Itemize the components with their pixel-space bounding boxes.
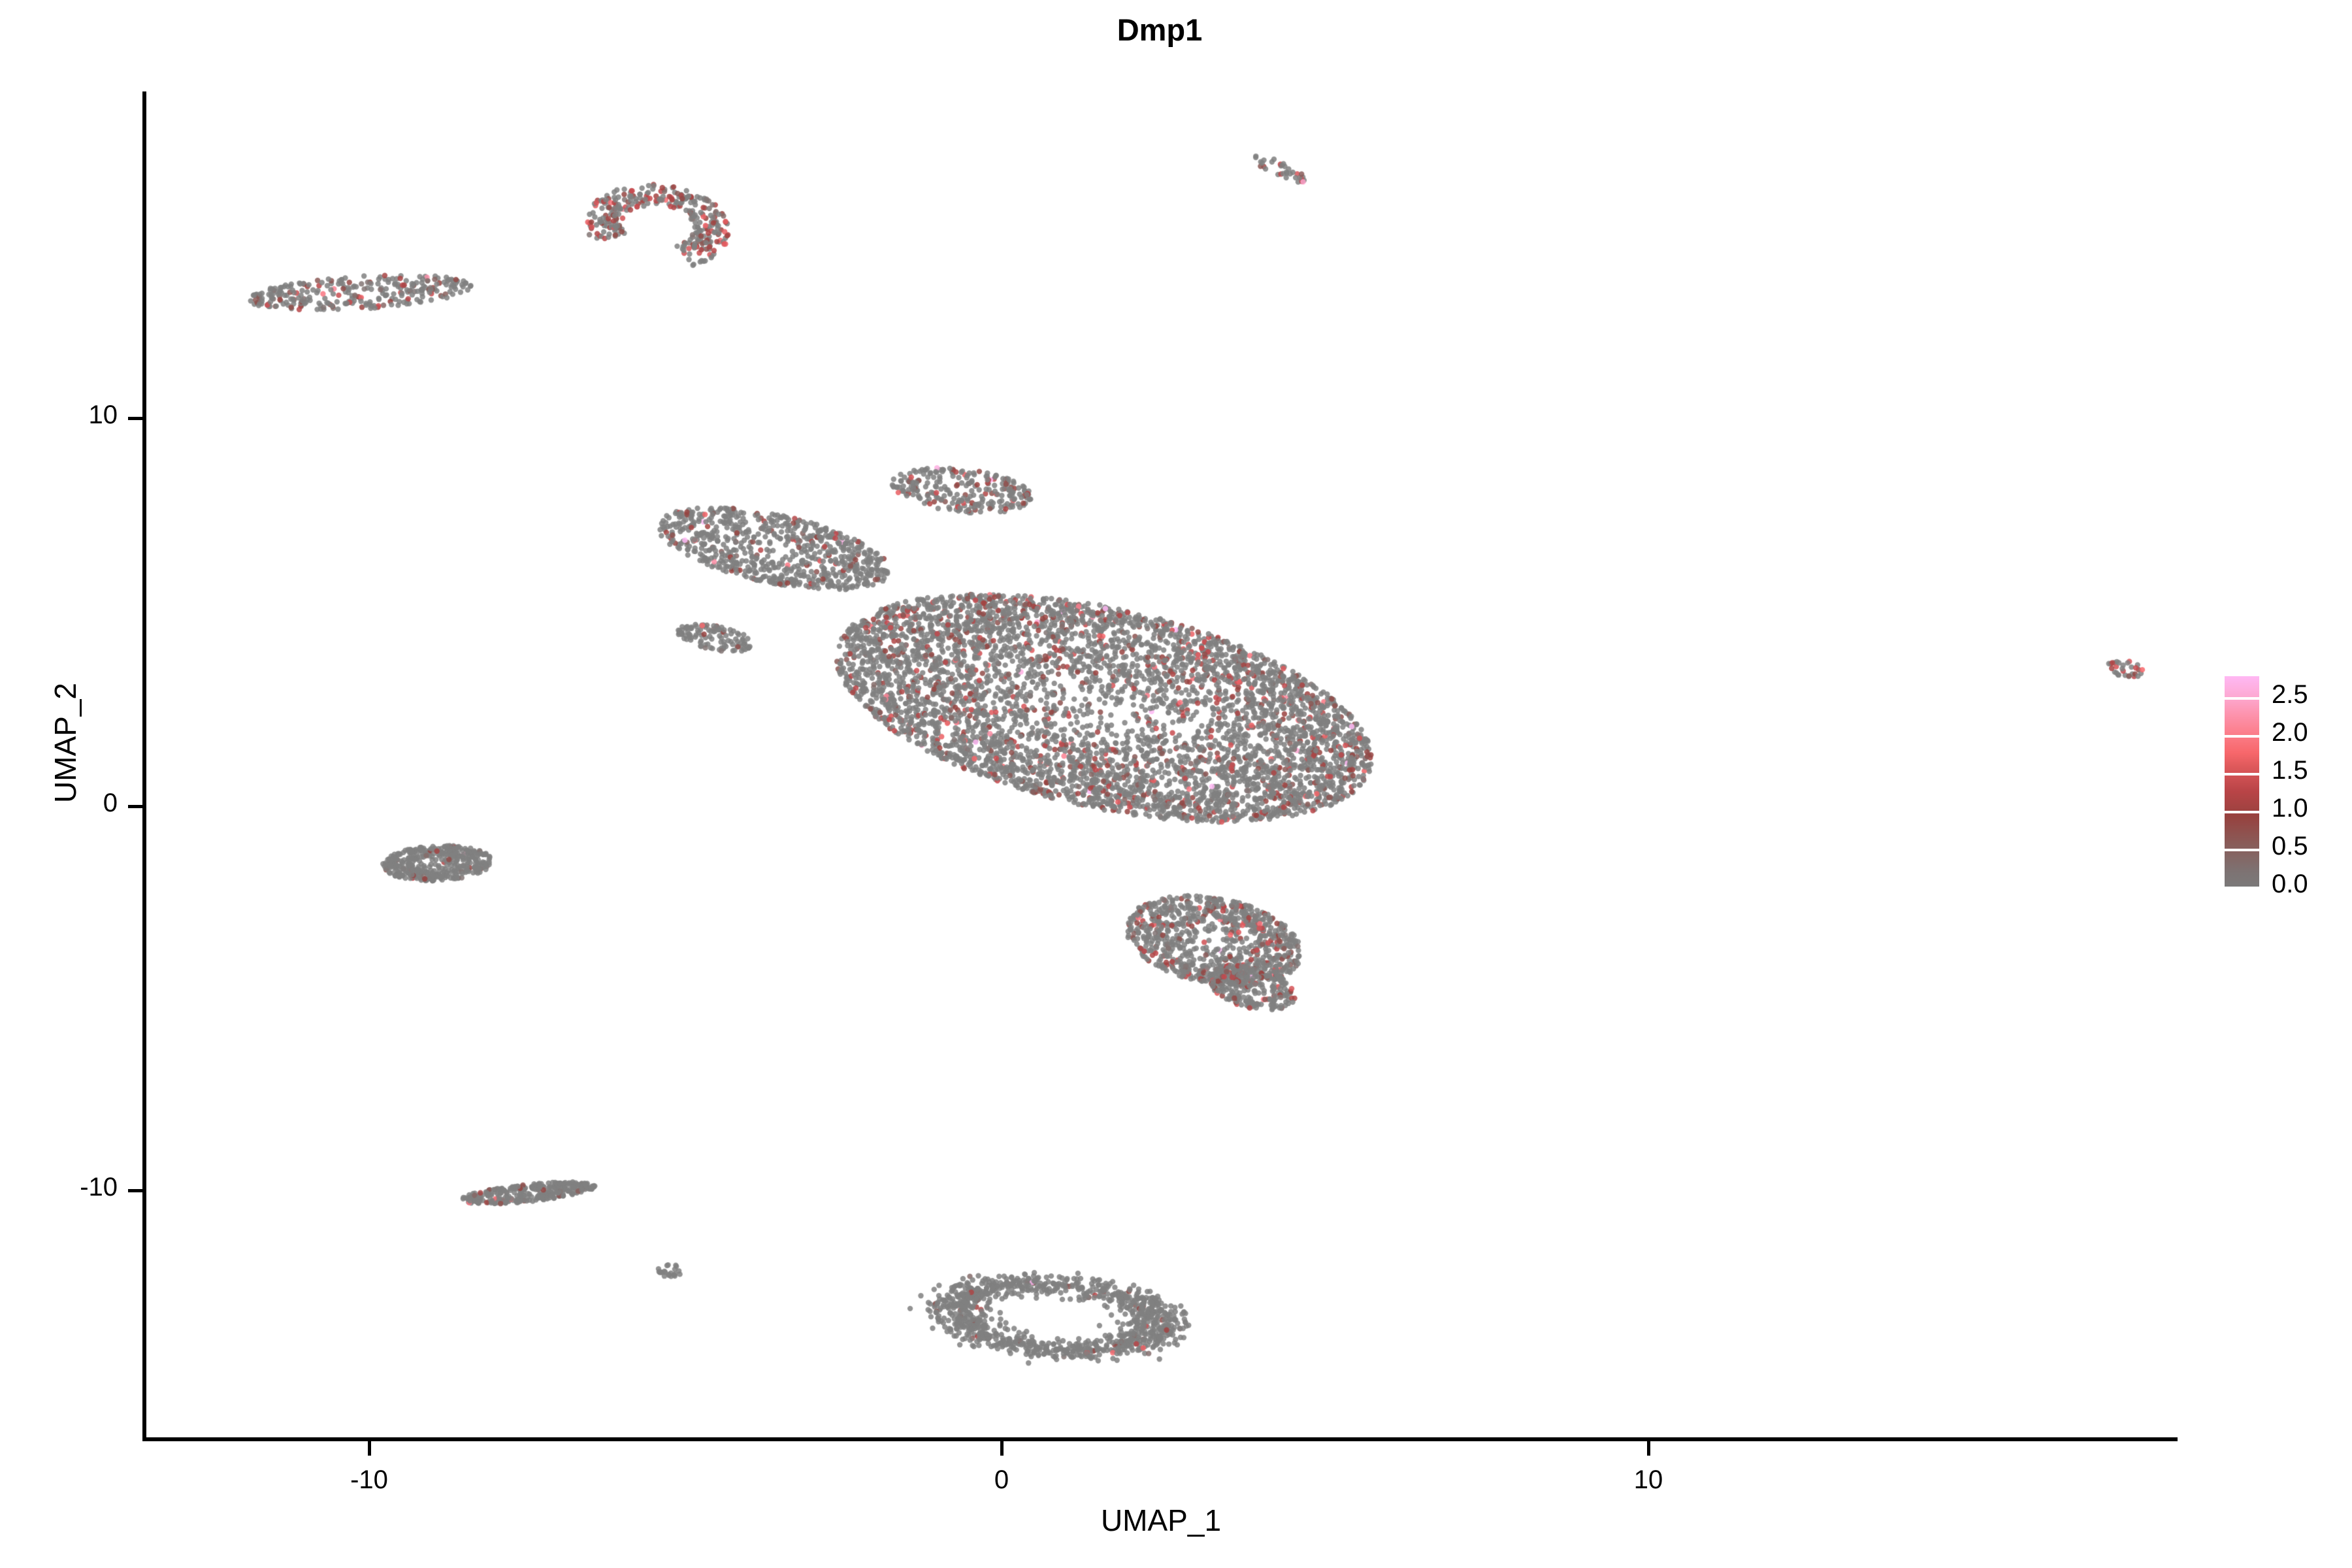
y-axis-line [142, 91, 146, 1441]
y-axis-title: UMAP_2 [48, 482, 83, 1004]
umap-feature-plot: Dmp1 10 0 -10 -10 0 10 UMAP_1 UMAP_2 2.5… [0, 0, 2352, 1568]
expression-colorbar-legend: 2.5 2.0 1.5 1.0 0.5 0.0 [2225, 676, 2342, 898]
x-tick-0 [1000, 1441, 1004, 1456]
colorbar-gradient [2225, 676, 2259, 889]
x-tick-label-neg10: -10 [304, 1465, 434, 1495]
y-tick-label-10: 10 [26, 400, 118, 430]
plot-title-wrap: Dmp1 [144, 12, 2176, 48]
x-tick-10 [1647, 1441, 1650, 1456]
y-tick-0 [128, 805, 142, 808]
x-axis-title: UMAP_1 [144, 1503, 2178, 1538]
page-title: Dmp1 [1117, 12, 1203, 47]
x-tick-neg10 [368, 1441, 371, 1456]
colorbar-tick-1-0 [2225, 811, 2259, 813]
colorbar-tick-1-5 [2225, 773, 2259, 776]
colorbar-label-0-5: 0.5 [2272, 833, 2308, 859]
colorbar-tick-2-5 [2225, 697, 2259, 700]
x-tick-label-0: 0 [936, 1465, 1067, 1495]
y-tick-10 [128, 417, 142, 420]
y-tick-label-neg10: -10 [26, 1173, 118, 1202]
colorbar-tick-2-0 [2225, 735, 2259, 738]
colorbar-label-1-5: 1.5 [2272, 757, 2308, 783]
colorbar-label-2-0: 2.0 [2272, 719, 2308, 745]
x-axis-line [142, 1437, 2178, 1441]
scatter-points-canvas [144, 91, 2178, 1439]
colorbar-tick-0-0 [2225, 887, 2259, 889]
colorbar-label-1-0: 1.0 [2272, 795, 2308, 821]
y-tick-neg10 [128, 1189, 142, 1192]
plot-panel [144, 91, 2178, 1439]
colorbar-label-2-5: 2.5 [2272, 681, 2308, 708]
x-tick-label-10: 10 [1583, 1465, 1714, 1495]
colorbar-tick-0-5 [2225, 849, 2259, 851]
colorbar-label-0-0: 0.0 [2272, 871, 2308, 897]
